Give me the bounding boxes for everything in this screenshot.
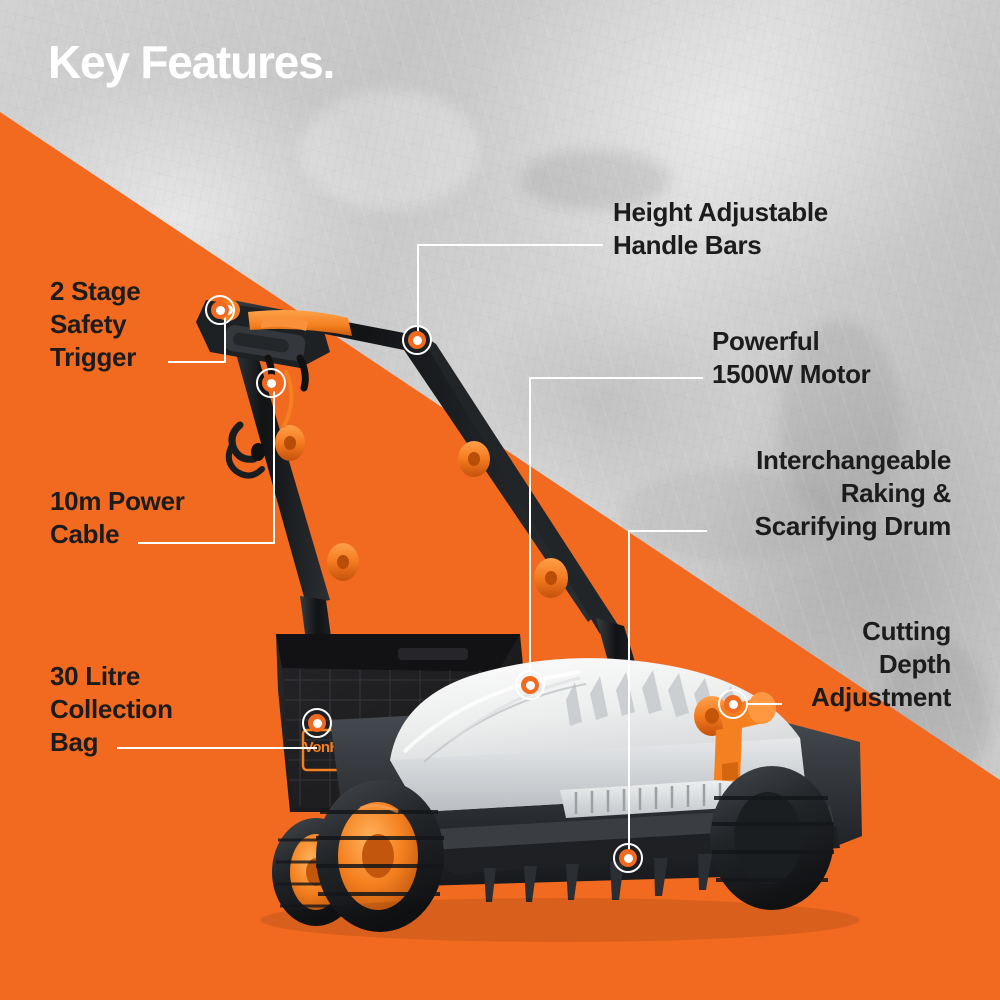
wheel-front <box>710 766 834 910</box>
marker-collection-bag[interactable] <box>302 708 332 738</box>
connector-safety-trigger-h <box>168 361 226 363</box>
connector-power-cable-v <box>273 384 275 544</box>
infographic-canvas: VonHaus <box>0 0 1000 1000</box>
marker-cutting-depth[interactable] <box>718 689 748 719</box>
callout-label-handle-bars: Height Adjustable Handle Bars <box>613 196 828 262</box>
marker-dot <box>408 331 426 349</box>
marker-motor[interactable] <box>515 670 545 700</box>
connector-cutting-depth-h <box>748 703 782 705</box>
marker-dot <box>211 301 229 319</box>
connector-motor-h <box>529 377 703 379</box>
connector-drum-v <box>628 530 630 860</box>
connector-motor-v <box>529 377 531 687</box>
callout-label-safety-trigger: 2 Stage Safety Trigger <box>50 275 140 374</box>
marker-drum[interactable] <box>613 843 643 873</box>
marker-dot <box>308 714 326 732</box>
callout-label-power-cable: 10m Power Cable <box>50 485 185 551</box>
marker-power-cable[interactable] <box>256 368 286 398</box>
knob-lower-right <box>534 558 568 598</box>
knob-lower-left <box>327 543 359 581</box>
connector-drum-h <box>628 530 707 532</box>
callout-label-drum: Interchangeable Raking & Scarifying Drum <box>755 444 951 543</box>
knob-upper-left <box>275 425 305 461</box>
marker-dot <box>724 695 742 713</box>
marker-handle-bars[interactable] <box>402 325 432 355</box>
page-title: Key Features. <box>48 35 334 89</box>
callout-label-motor: Powerful 1500W Motor <box>712 325 871 391</box>
marker-dot <box>262 374 280 392</box>
marker-dot <box>619 849 637 867</box>
marker-dot <box>521 676 539 694</box>
connector-handle-bars-h <box>417 244 603 246</box>
knob-upper-right <box>458 441 490 477</box>
callout-label-cutting-depth: Cutting Depth Adjustment <box>811 615 951 714</box>
marker-safety-trigger[interactable] <box>205 295 235 325</box>
callout-label-collection-bag: 30 Litre Collection Bag <box>50 660 173 759</box>
